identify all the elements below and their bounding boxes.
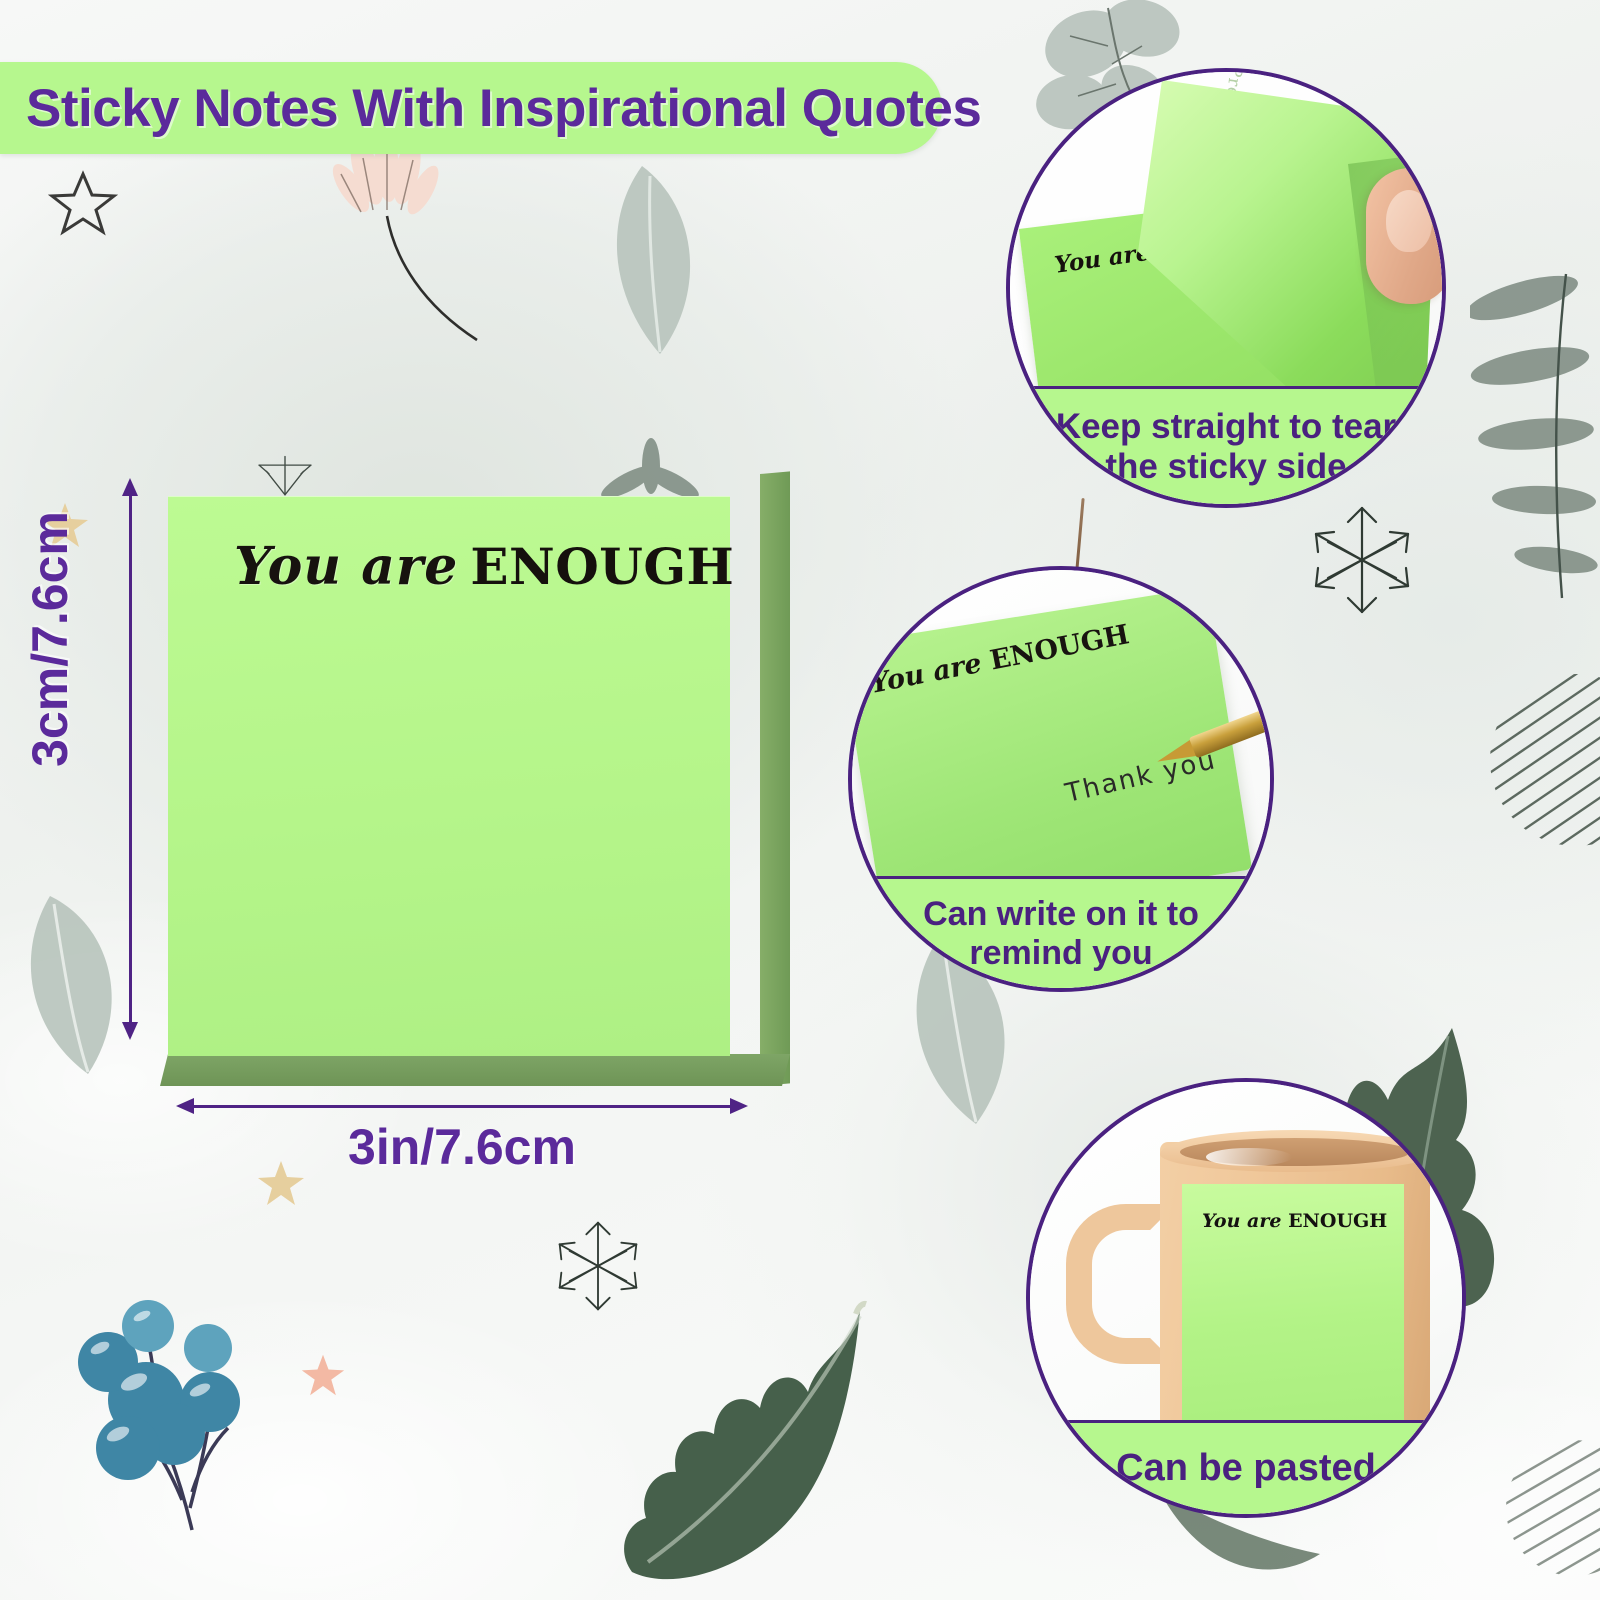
page-title: Sticky Notes With Inspirational Quotes: [26, 78, 981, 139]
product-sticky-note: You areENOUGH: [168, 474, 788, 1084]
callout-write-caption: Can write on it toremind you: [852, 876, 1270, 988]
infographic-canvas: Sticky Notes With Inspirational Quotes Y…: [0, 0, 1600, 1600]
title-banner: Sticky Notes With Inspirational Quotes: [0, 62, 942, 154]
callout-can-be-pasted: You are ENOUGH Can be pasted: [1026, 1078, 1466, 1518]
width-dimension-arrow: [176, 1098, 748, 1114]
note-side-face: [760, 471, 790, 1086]
note-top-face: You areENOUGH: [168, 496, 730, 1056]
fingernail-icon: [1386, 190, 1432, 252]
callout-paste-caption: Can be pasted: [1030, 1420, 1462, 1514]
height-dimension-arrow: [122, 478, 138, 1040]
callout-tear-caption: Keep straight to tearthe sticky side: [1010, 386, 1442, 504]
callout-tear-sticky-side: Press here You are EN Keep straight to t…: [1006, 68, 1446, 508]
callout-write-to-remind: You are ENOUGH Thank you Can write on it…: [848, 566, 1274, 992]
note-quote-script: You are: [234, 536, 458, 597]
callout-paste-note-quote: You are ENOUGH: [1202, 1210, 1387, 1232]
height-dimension-label: 3cm/7.6cm: [21, 469, 79, 809]
note-quote: You areENOUGH: [234, 536, 734, 597]
width-dimension-label: 3in/7.6cm: [176, 1118, 748, 1176]
note-bottom-face: [160, 1054, 790, 1086]
note-quote-bold: ENOUGH: [470, 537, 734, 596]
